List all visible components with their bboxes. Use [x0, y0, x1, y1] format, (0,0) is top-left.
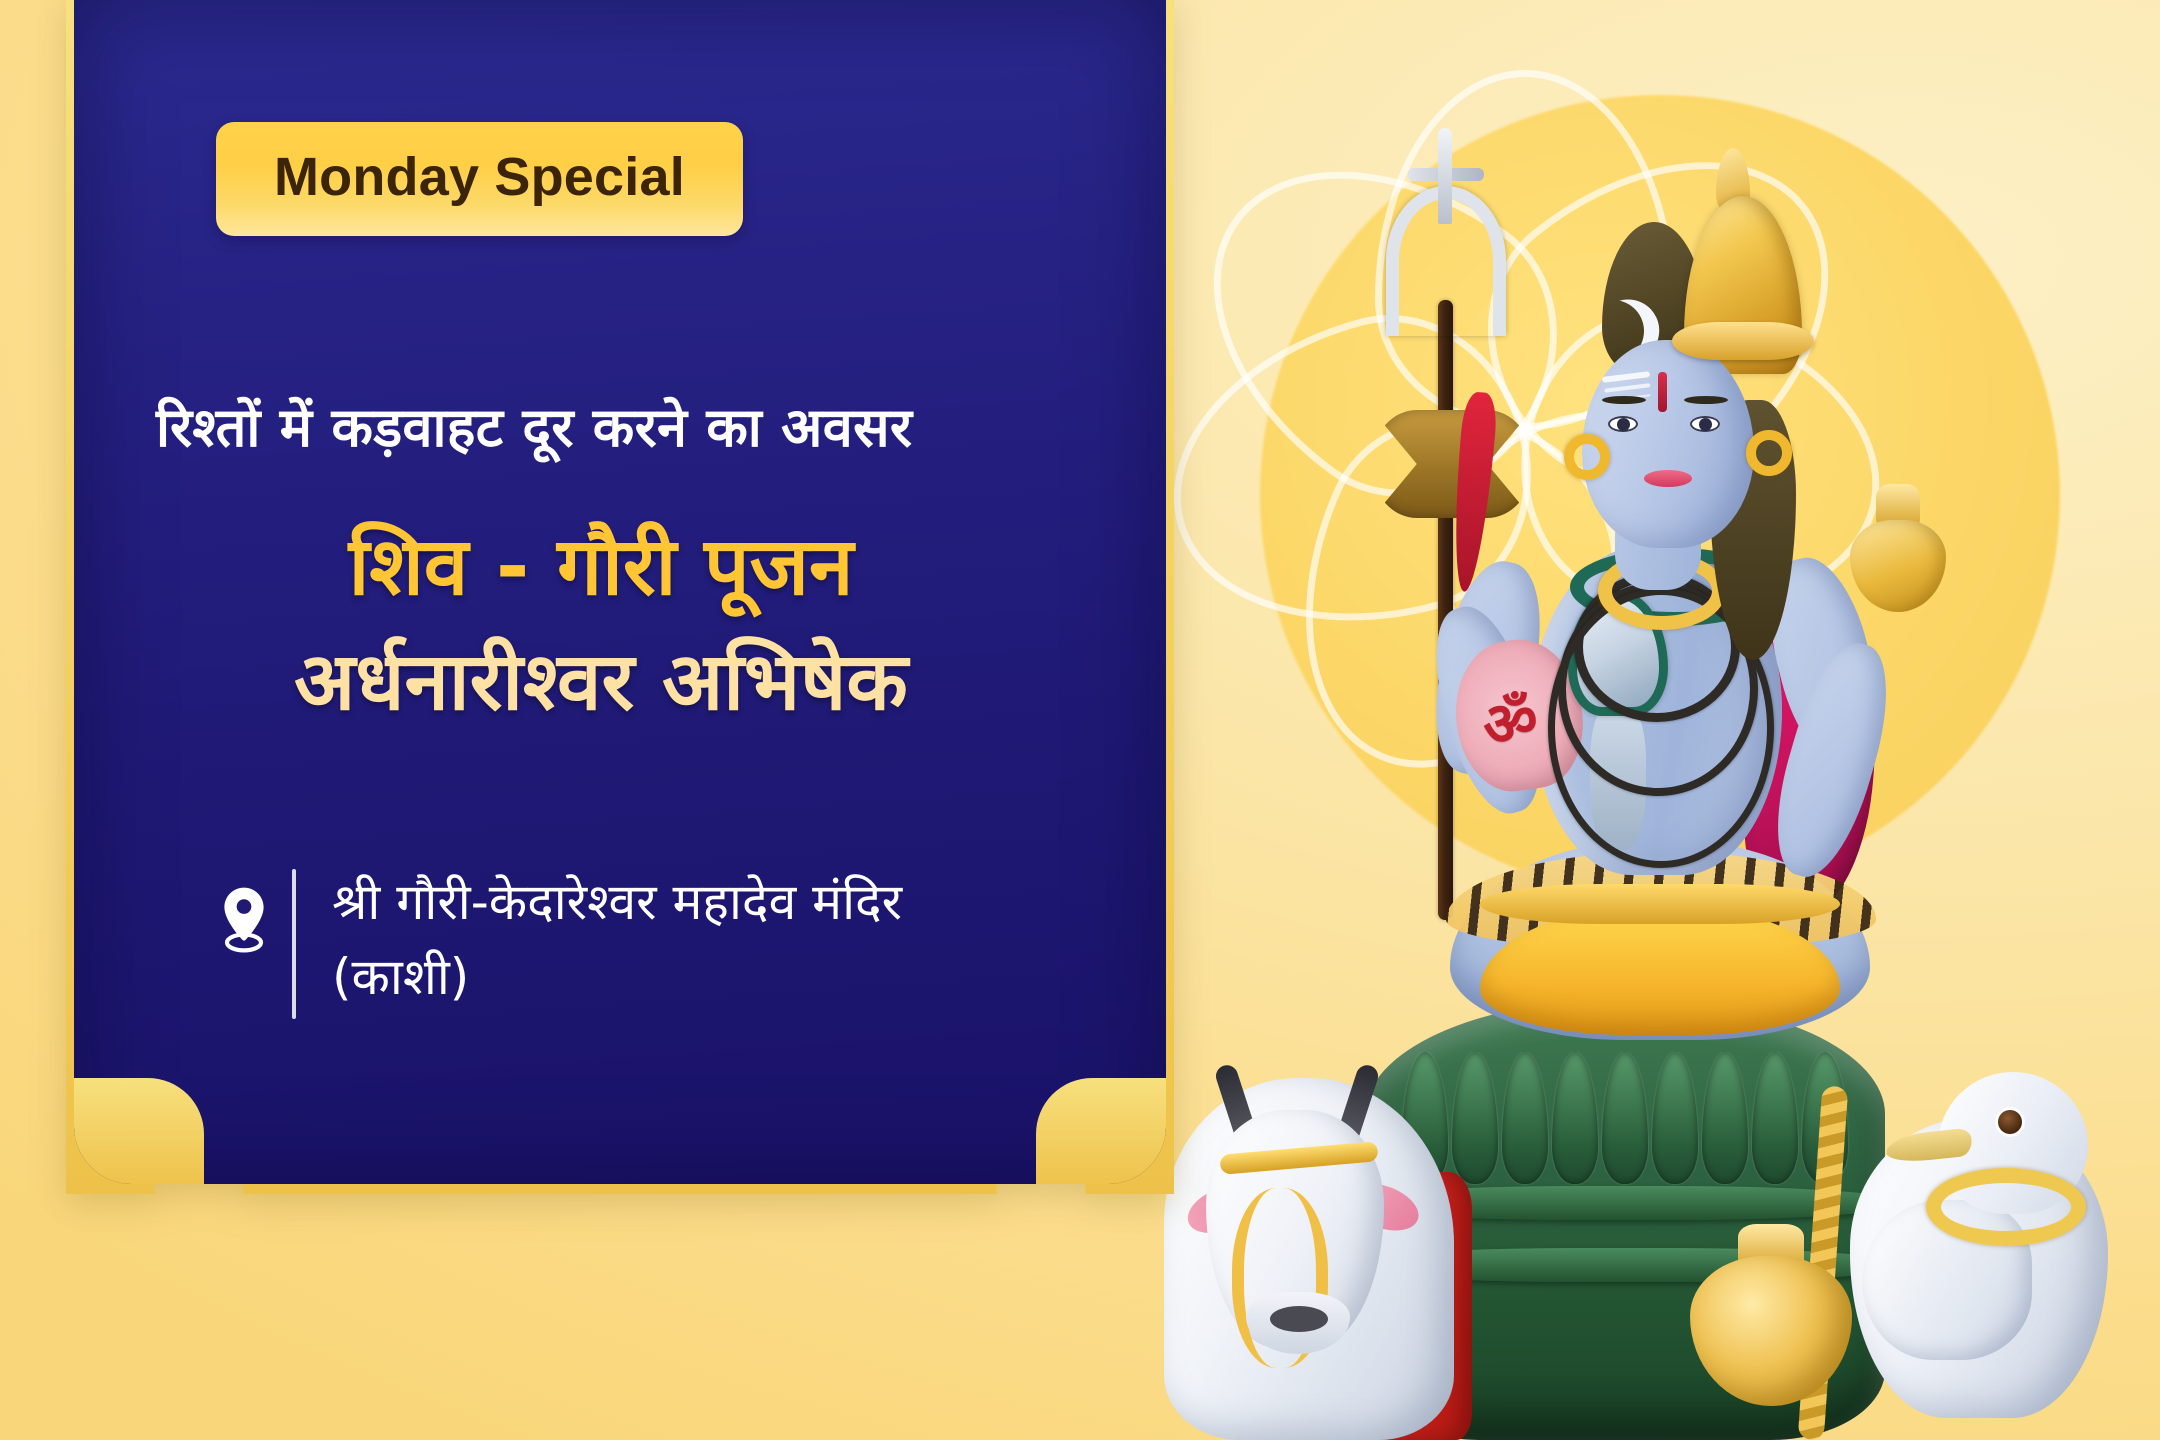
venue-line-1: श्री गौरी-केदारेश्वर महादेव मंदिर	[332, 865, 902, 940]
title-line-2: अर्धनारीश्वर अभिषेक	[154, 629, 1048, 735]
crown-band	[1672, 322, 1814, 360]
swan-necklace	[1926, 1168, 2086, 1246]
swan-eye	[1998, 1110, 2022, 1134]
venue-block: श्री गौरी-केदारेश्वर महादेव मंदिर (काशी)	[154, 863, 1094, 1019]
location-pin-icon	[196, 863, 292, 953]
deity-artwork: ॐ	[1150, 0, 2160, 1440]
venue-name: श्री गौरी-केदारेश्वर महादेव मंदिर (काशी)	[332, 863, 902, 1015]
tilak	[1658, 372, 1667, 412]
left-eye	[1608, 416, 1638, 432]
card-notch-right	[1036, 1078, 1166, 1184]
venue-divider	[292, 869, 296, 1019]
venue-line-2: (काशी)	[332, 940, 902, 1015]
deity-face	[1582, 340, 1754, 548]
promo-banner: ॐ	[0, 0, 2160, 1440]
info-card: Monday Special रिश्तों में कड़वाहट दूर क…	[66, 0, 1174, 1194]
right-eyebrow	[1684, 396, 1728, 404]
right-earring	[1746, 430, 1792, 476]
subtitle-text: रिश्तों में कड़वाहट दूर करने का अवसर	[156, 394, 1094, 462]
gold-belt	[1480, 884, 1840, 924]
card-notch-left	[74, 1078, 204, 1184]
badge-label: Monday Special	[274, 147, 685, 207]
left-eyebrow	[1602, 396, 1646, 404]
right-eye	[1690, 416, 1720, 432]
monday-special-badge[interactable]: Monday Special	[216, 122, 743, 236]
title-line-1: शिव - गौरी पूजन	[154, 514, 1048, 620]
page-title: शिव - गौरी पूजन अर्धनारीश्वर अभिषेक	[154, 514, 1094, 735]
trishul-spike	[1438, 128, 1452, 224]
nandi-nose	[1270, 1306, 1328, 1332]
om-symbol: ॐ	[1479, 690, 1542, 757]
left-earring	[1564, 434, 1610, 480]
lips	[1644, 470, 1692, 487]
